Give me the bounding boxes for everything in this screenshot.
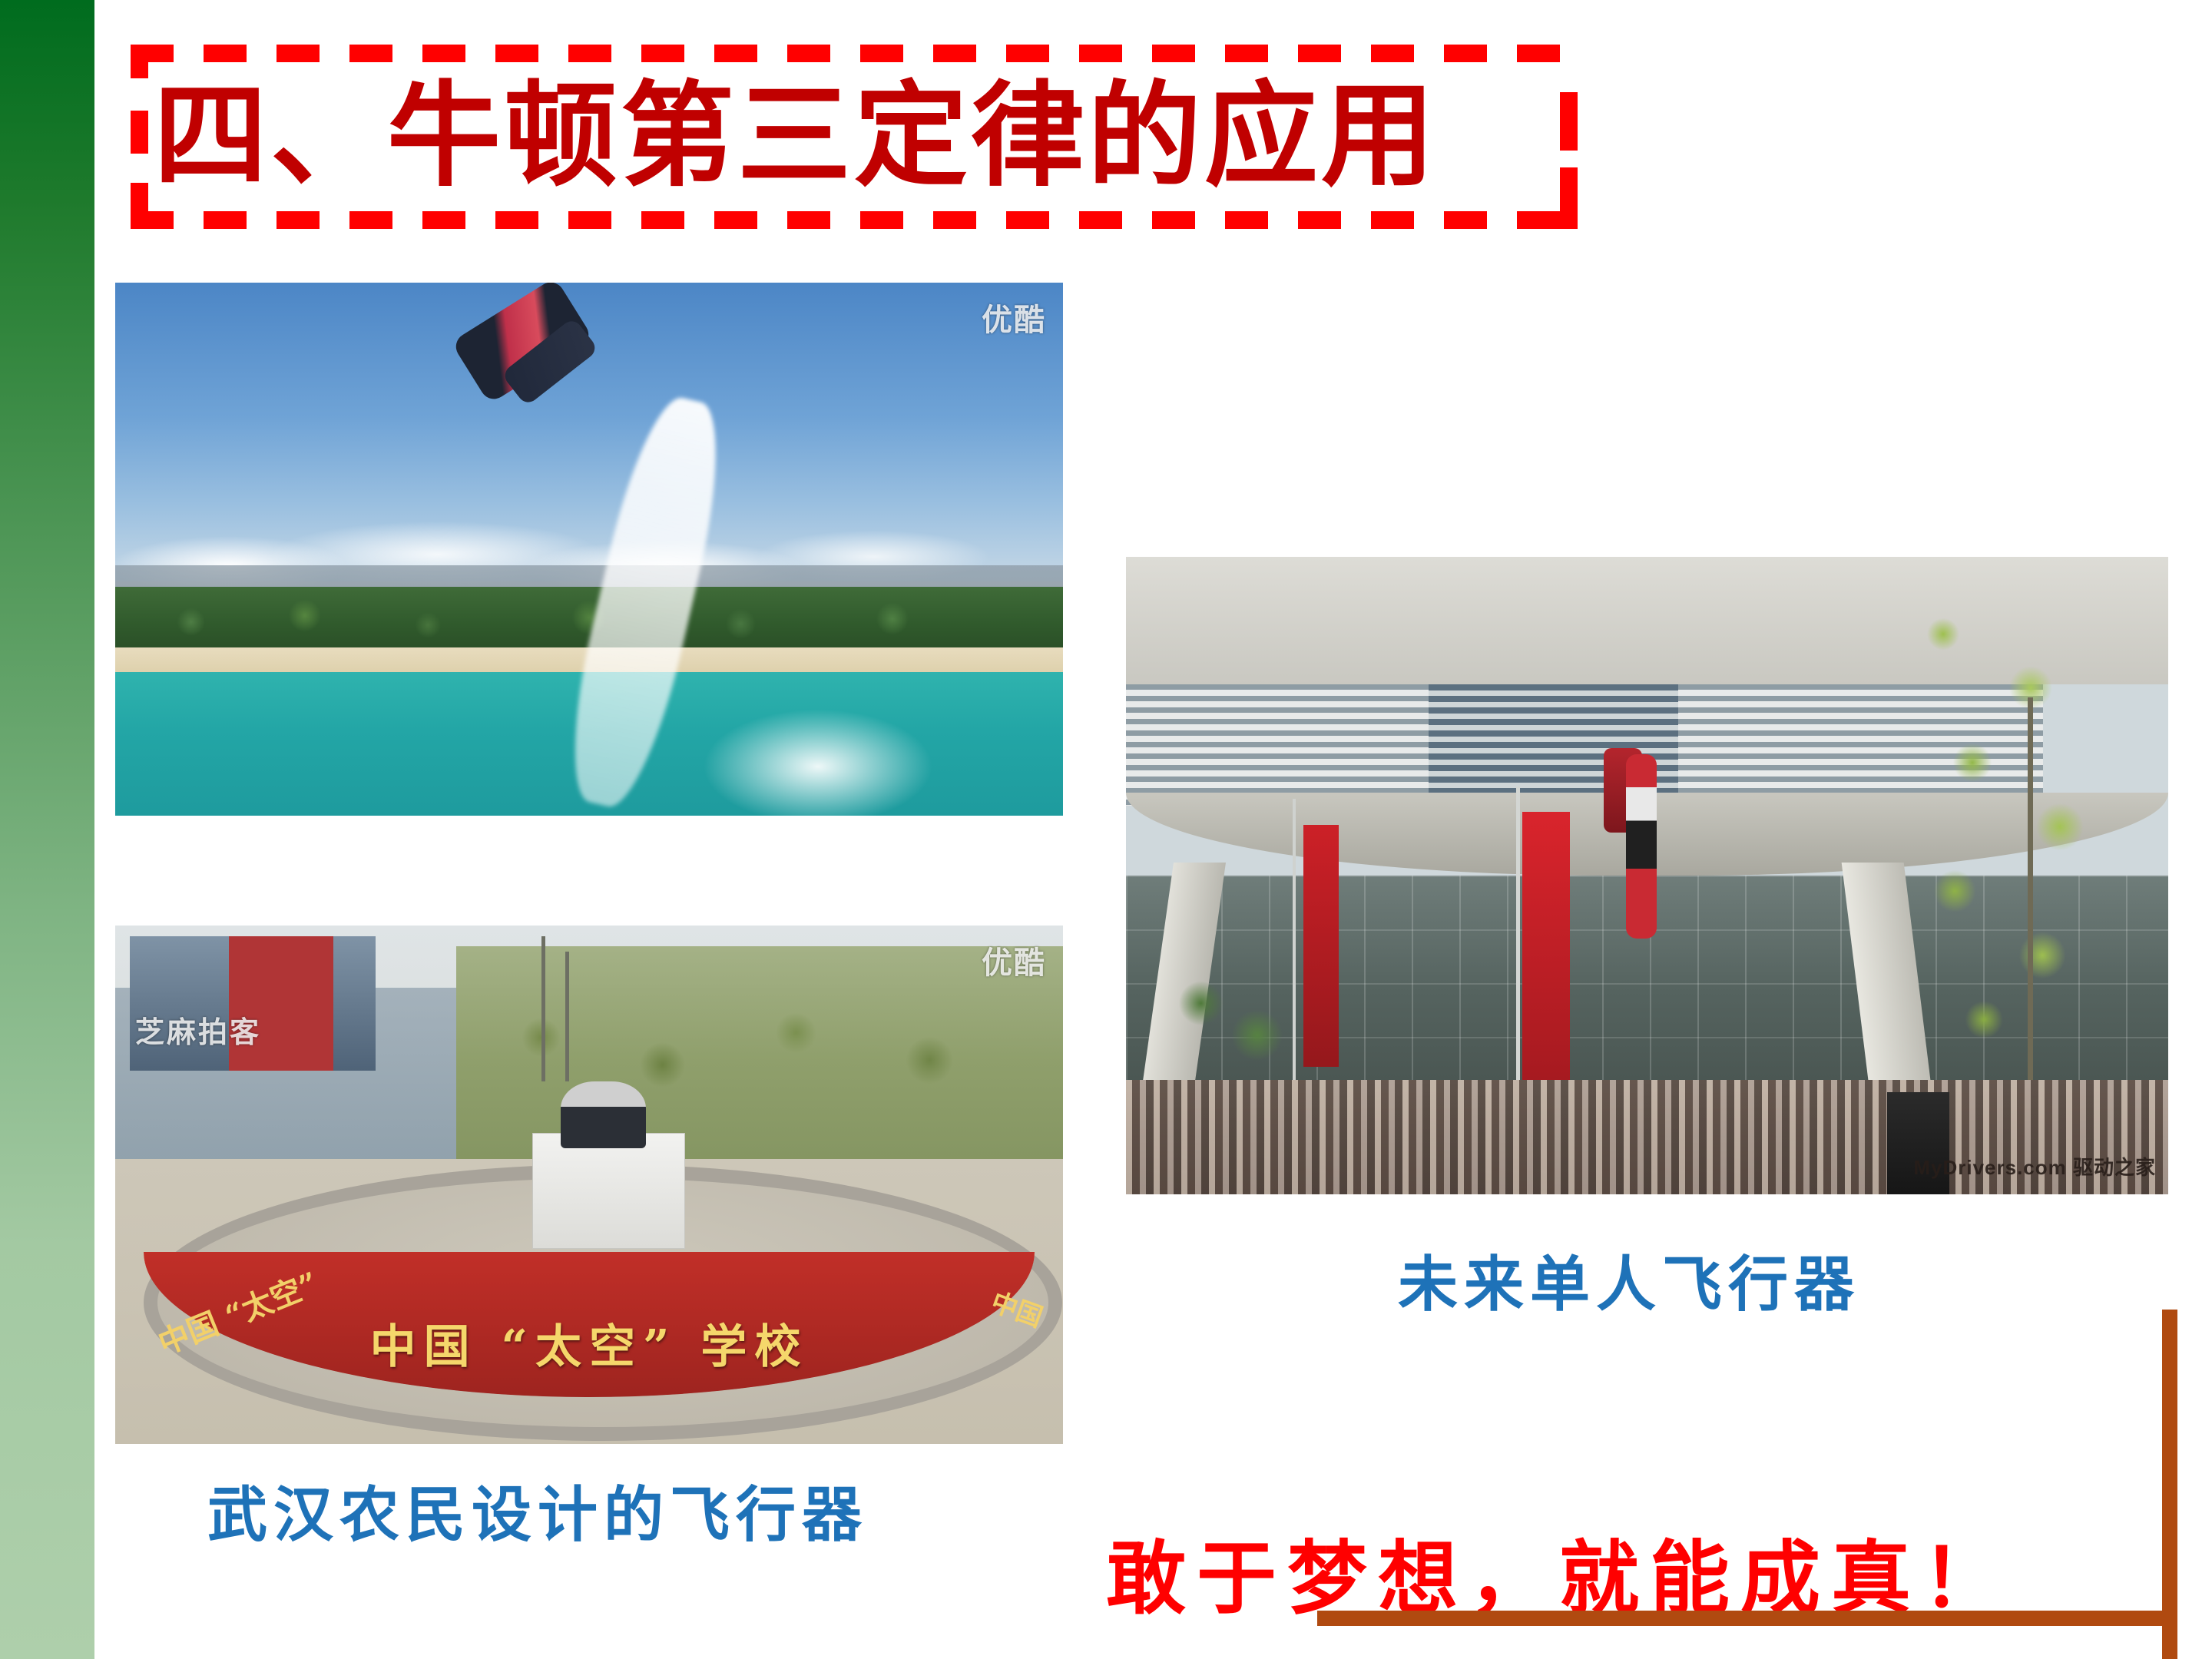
border-dash xyxy=(1225,211,1268,229)
border-dash xyxy=(1444,211,1487,229)
caption-jetpack: 未来单人飞行器 xyxy=(1398,1237,1860,1323)
border-dash xyxy=(422,211,465,229)
banner-text-center: 中国 “太空” 学校 xyxy=(115,1310,1063,1376)
border-dash xyxy=(641,211,684,229)
antenna-pole xyxy=(541,936,545,1081)
border-dash xyxy=(349,211,392,229)
border-dash xyxy=(641,45,684,62)
border-dash xyxy=(349,45,392,62)
border-dash xyxy=(1560,92,1578,151)
border-dash xyxy=(1517,211,1560,229)
pilot-figure xyxy=(561,1081,646,1149)
border-dash xyxy=(1371,211,1414,229)
border-dash xyxy=(131,111,148,154)
water-spray xyxy=(703,709,933,816)
border-dash xyxy=(1079,211,1122,229)
page-title: 四、牛顿第三定律的应用 xyxy=(154,66,1559,204)
border-dash xyxy=(568,211,611,229)
border-dash xyxy=(1444,45,1487,62)
border-dash xyxy=(860,211,903,229)
loudspeaker xyxy=(1887,1092,1949,1194)
foreground-tree xyxy=(1856,570,2147,1105)
border-dash xyxy=(495,211,538,229)
caption-discraft: 武汉农民设计的飞行器 xyxy=(207,1467,868,1553)
border-dash xyxy=(787,211,830,229)
flag-pole xyxy=(1516,786,1520,1092)
red-vertical-banner xyxy=(1522,812,1570,1080)
border-dash xyxy=(1152,211,1195,229)
border-dash xyxy=(860,45,903,62)
border-dash xyxy=(1517,45,1560,62)
border-dash xyxy=(933,211,976,229)
border-dash xyxy=(131,45,148,78)
image-discraft: 中国 “太空” 中国 “太空” 学校 中国 芝麻拍客 优酷 xyxy=(115,926,1063,1444)
border-dash xyxy=(495,45,538,62)
jetpack-pilot xyxy=(1626,754,1657,939)
border-dash xyxy=(1152,45,1195,62)
border-dash xyxy=(1079,45,1122,62)
border-dash xyxy=(131,183,148,229)
sidebar-green-bar xyxy=(0,0,94,1659)
border-dash xyxy=(1298,45,1341,62)
border-dash xyxy=(1225,45,1268,62)
slide-title-box: 四、牛顿第三定律的应用 xyxy=(131,45,1582,229)
border-dash xyxy=(568,45,611,62)
border-dash xyxy=(1298,211,1341,229)
cockpit-box xyxy=(532,1133,685,1249)
border-dash xyxy=(714,45,757,62)
border-dash xyxy=(787,45,830,62)
border-dash xyxy=(1006,211,1049,229)
image-jetpack: MyDrivers.com 驱动之家 xyxy=(1126,557,2168,1194)
antenna-pole xyxy=(565,952,569,1081)
border-dash xyxy=(204,45,247,62)
border-dash xyxy=(276,211,320,229)
vertical-rule xyxy=(2162,1310,2177,1659)
image-flyboard: 优酷 xyxy=(115,283,1063,816)
border-dash xyxy=(1560,167,1578,229)
border-dash xyxy=(714,211,757,229)
tree-trunk xyxy=(2028,697,2033,1144)
border-dash xyxy=(1006,45,1049,62)
border-dash xyxy=(276,45,320,62)
billboard-red-panel xyxy=(229,936,333,1071)
border-dash xyxy=(204,211,247,229)
border-dash xyxy=(422,45,465,62)
foliage-left xyxy=(1126,939,1313,1099)
horizontal-rule xyxy=(1317,1611,2170,1626)
border-dash xyxy=(933,45,976,62)
crowd-texture xyxy=(1126,1080,2168,1194)
border-dash xyxy=(1371,45,1414,62)
